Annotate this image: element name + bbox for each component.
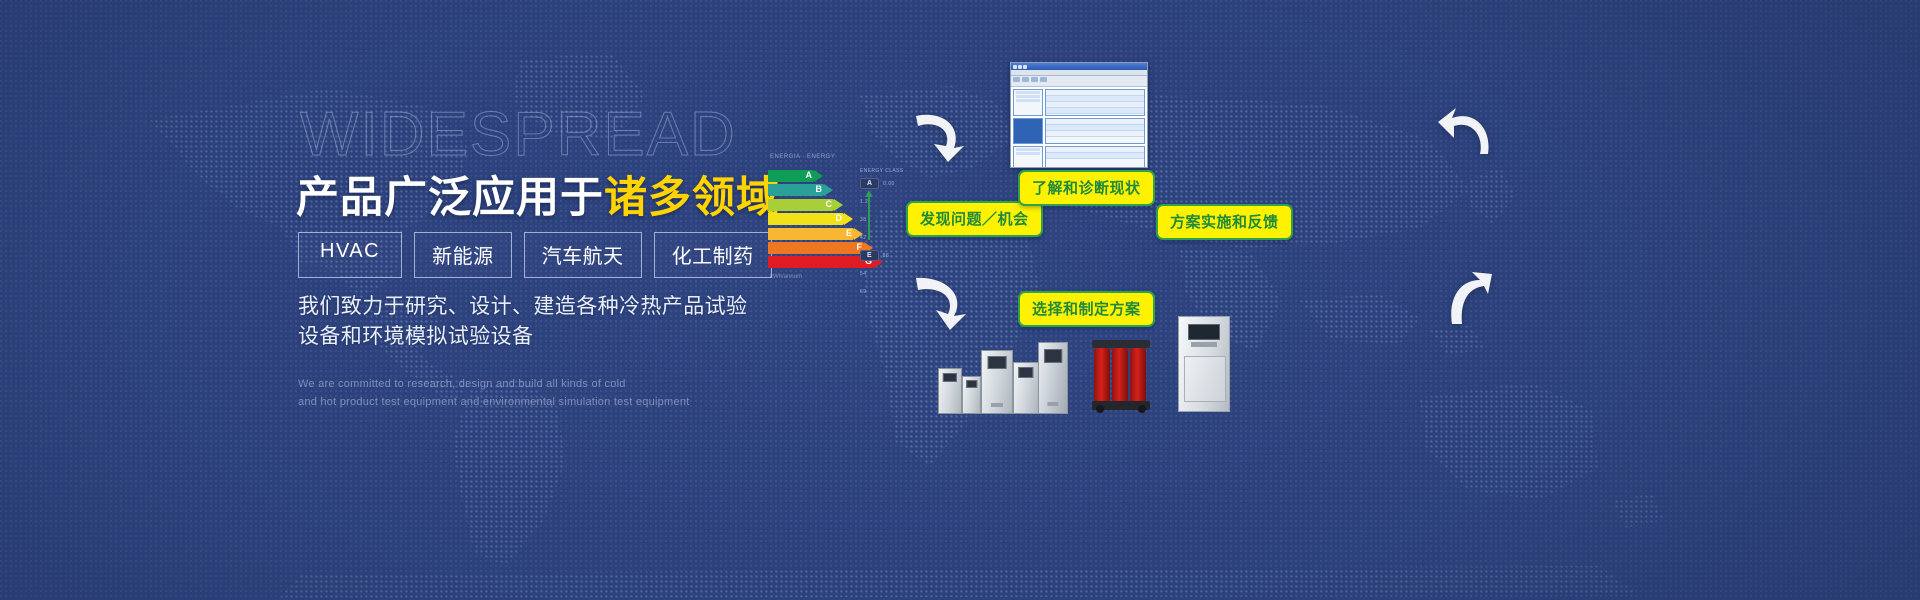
spec-value: 38 [860, 217, 867, 223]
spec-badge: A [860, 178, 879, 189]
process-cycle-diagram: ENERGIA · ENERGY A B C D E F G kWh/annum… [760, 0, 1920, 600]
ghost-heading: WIDESPREAD [300, 104, 737, 166]
spec-value: 69 [860, 289, 867, 295]
energy-bar-c-label: C [826, 198, 833, 211]
energy-bar-a-label: A [806, 169, 813, 182]
page-title: 产品广泛应用于诸多领域 [296, 174, 780, 223]
energy-bar-a: A [768, 170, 814, 182]
energy-bar-c: C [768, 199, 834, 211]
toolbar-icon [1013, 77, 1020, 82]
product-red-cylinder-unit [1092, 336, 1160, 410]
product-test-chamber-group [938, 334, 1068, 414]
energy-bar-e: E [768, 228, 854, 240]
chamber-medium [981, 350, 1013, 414]
grid-row [1046, 131, 1144, 137]
chamber-display [988, 356, 1007, 369]
red-cylinder [1112, 344, 1128, 402]
red-cylinder [1130, 344, 1146, 402]
hero-banner: WIDESPREAD 产品广泛应用于诸多领域 HVAC 新能源 汽车航天 化工制… [0, 0, 1920, 600]
spec-value: 42 [860, 235, 867, 241]
panel-line [1016, 152, 1040, 155]
panel-line [1016, 91, 1040, 94]
window-toolbar [1011, 76, 1147, 87]
tag-new-energy[interactable]: 新能源 [414, 232, 512, 278]
energy-bar-d-label: D [836, 212, 843, 225]
toolbar-icon [1040, 77, 1047, 82]
spec-value: 0.00 [883, 181, 895, 187]
energy-bar-b: B [768, 184, 824, 196]
chamber-mini [962, 376, 981, 414]
panel-line [1016, 95, 1040, 98]
cylinder-top-manifold [1092, 340, 1150, 348]
toolbar-icon [1031, 77, 1038, 82]
window-panel [1045, 118, 1145, 145]
window-panel [1045, 146, 1145, 168]
spec-row: 54 [860, 268, 906, 279]
headline-white-part: 产品广泛应用于 [296, 174, 604, 222]
spec-heading: ENERGY CLASS [860, 168, 906, 174]
window-panel [1045, 89, 1145, 116]
spec-value: 86 [883, 253, 890, 259]
energy-bar-e-label: E [846, 227, 852, 240]
energy-label-title: ENERGIA · ENERGY [770, 154, 835, 160]
product-white-climate-cabinet [1178, 316, 1230, 412]
grid-row [1046, 108, 1144, 114]
description-text: 我们致力于研究、设计、建造各种冷热产品试验 设备和环境模拟试验设备 [298, 292, 747, 352]
tag-automotive-aerospace[interactable]: 汽车航天 [524, 232, 642, 278]
spec-row: 42 [860, 232, 906, 243]
energy-label-footer: kWh/annum [770, 274, 802, 280]
window-body [1011, 87, 1147, 168]
chamber-knob [1047, 402, 1058, 406]
window-left-column [1013, 89, 1043, 168]
cabinet-control-strip [1191, 342, 1217, 347]
spec-row: E86 [860, 250, 906, 261]
spec-badge: E [860, 250, 879, 261]
energy-bar-d: D [768, 213, 844, 225]
window-right-column [1045, 89, 1145, 168]
caster-wheel [1096, 405, 1104, 413]
window-titlebar [1011, 63, 1147, 70]
curved-arrow-down-right-icon [908, 106, 968, 166]
headline-yellow-part: 诸多领域 [604, 174, 780, 222]
cabinet-door [1184, 356, 1226, 402]
tag-chemical-pharma[interactable]: 化工制药 [654, 232, 772, 278]
energy-bar-g: G [768, 256, 874, 268]
caster-wheel [1138, 405, 1146, 413]
toolbar-icon [1022, 77, 1029, 82]
energy-bar-f: F [768, 242, 864, 254]
curved-arrow-up-left-icon [1436, 104, 1496, 164]
window-panel [1013, 118, 1043, 145]
window-panel [1013, 146, 1043, 168]
curved-arrow-up-icon [1438, 268, 1498, 328]
panel-line [1016, 148, 1040, 151]
red-cylinder [1094, 344, 1110, 402]
label-discover-problem[interactable]: 发现问题／机会 [906, 201, 1043, 237]
spec-up-arrow-icon [868, 196, 870, 240]
chamber-small-left [938, 368, 962, 414]
energy-bar-b-label: B [816, 183, 823, 196]
chamber-display [1018, 367, 1033, 378]
label-implement-feedback[interactable]: 方案实施和反馈 [1156, 204, 1293, 240]
window-icon [1023, 65, 1027, 69]
software-screenshot [1010, 62, 1148, 168]
window-panel [1013, 89, 1043, 116]
tag-hvac[interactable]: HVAC [298, 232, 402, 278]
spec-row: 1.2 [860, 196, 906, 207]
panel-line [1016, 99, 1040, 102]
cabinet-display [1188, 324, 1220, 340]
spec-row: 38 [860, 214, 906, 225]
energy-spec-panel: ENERGY CLASS A0.00 1.2 38 42 E86 54 69 [860, 168, 906, 304]
spec-row: 69 [860, 286, 906, 297]
window-icon [1013, 65, 1017, 69]
description-text-english: We are committed to research, design and… [298, 376, 690, 412]
chamber-display [943, 373, 957, 383]
spec-value: 54 [860, 271, 867, 277]
chamber-display [1044, 349, 1062, 364]
chamber-side [1013, 362, 1039, 414]
category-tag-list: HVAC 新能源 汽车航天 化工制药 [298, 232, 772, 278]
grid-row [1046, 153, 1144, 159]
label-select-plan[interactable]: 选择和制定方案 [1018, 291, 1155, 327]
chamber-display [966, 380, 978, 388]
window-icon [1018, 65, 1022, 69]
spec-row: A0.00 [860, 178, 906, 189]
chamber-knob [991, 403, 1003, 407]
chamber-tall-right [1038, 342, 1068, 414]
label-understand-diagnose[interactable]: 了解和诊断现状 [1018, 170, 1155, 206]
curved-arrow-down-right-icon [910, 272, 970, 332]
